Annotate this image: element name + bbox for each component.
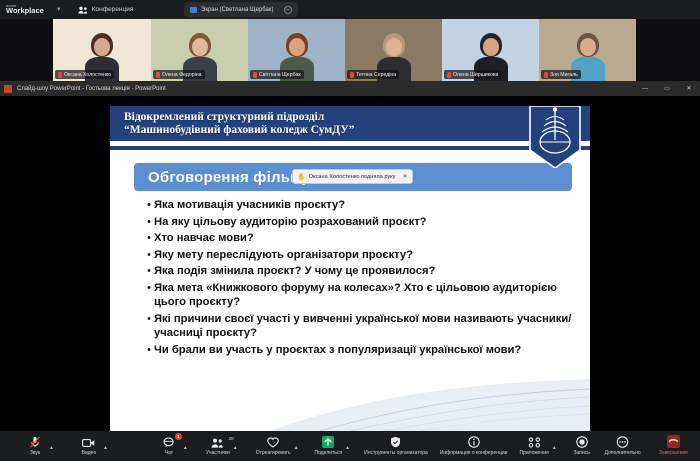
bullet-marker-icon: • [144, 198, 154, 213]
slide-bullet-item: •Які причини своєї участі у вивченні укр… [144, 312, 574, 341]
raised-hand-text: Оксана Холостенко подняла руку [309, 174, 396, 180]
shared-screen-label: Экран (Светлана Щербак) [201, 7, 274, 13]
slide-bullet-item: •Яка мотивація учасників проєкту? [144, 198, 574, 213]
shield-icon [390, 436, 401, 448]
end-meeting-button[interactable]: Завершение [657, 431, 690, 461]
control-group-record: Запись [569, 431, 595, 461]
raised-hand-icon: ✋ [297, 173, 306, 181]
control-record[interactable]: Запись [569, 431, 595, 461]
control-label: Информация о конференции [440, 450, 508, 456]
slide-header-band: Відокремлений структурний підрозділ “Маш… [110, 106, 590, 141]
face-shape [580, 38, 596, 56]
participant-name: Зоя Мигаль [550, 72, 578, 78]
chevron-down-icon[interactable]: ▼ [56, 7, 62, 13]
face-shape [192, 38, 208, 56]
slide-bullet-item: •На яку цільову аудиторію розрахований п… [144, 215, 574, 230]
control-group-share: Поделиться▲ [313, 431, 355, 461]
people-icon [211, 436, 224, 448]
minimize-button[interactable]: — [634, 81, 656, 96]
participant-nametag: Зоя Мигаль [541, 70, 581, 79]
muted-mic-icon [253, 72, 257, 78]
participant-name: Олена Федоріна [162, 72, 202, 78]
bullet-marker-icon: • [144, 231, 154, 246]
college-name: Відокремлений структурний підрозділ “Маш… [124, 111, 354, 137]
control-label: Чат [165, 450, 173, 456]
bullet-text: Яка подія змінила проєкт? У чому це проя… [154, 264, 435, 279]
participant-nametag: Оксана Холостенко [55, 70, 114, 79]
muted-mic-icon [350, 72, 354, 78]
chat-icon [163, 436, 175, 448]
face-shape [483, 38, 499, 56]
control-label: Запись [573, 450, 589, 456]
record-icon [576, 436, 588, 448]
bullet-text: Хто навчає мови? [154, 231, 254, 246]
participant-filmstrip: Оксана ХолостенкоОлена ФедорінаСвітлана … [0, 19, 700, 81]
chevron-up-icon-share[interactable]: ▲ [345, 445, 350, 451]
muted-mic-icon [544, 72, 548, 78]
participant-tile[interactable]: Тетяна Середіна [345, 19, 442, 81]
control-participants[interactable]: Участники28 [204, 431, 232, 461]
control-label: Приложения [519, 450, 548, 456]
share-icon [322, 436, 334, 448]
bullet-marker-icon: • [144, 281, 154, 296]
bullet-marker-icon: • [144, 215, 154, 230]
slide-bullet-item: •Яка подія змінила проєкт? У чому це про… [144, 264, 574, 279]
control-info[interactable]: Информация о конференции [438, 431, 510, 461]
participant-name: Оксана Холостенко [64, 72, 111, 78]
bullet-marker-icon: • [144, 248, 154, 263]
face-shape [289, 38, 305, 56]
bullet-text: На яку цільову аудиторію розрахований пр… [154, 215, 427, 230]
powerpoint-window-title: Слайд-шоу PowerPoint - Гостьова лекція -… [17, 86, 166, 92]
participant-tile[interactable]: Зоя Мигаль [539, 19, 636, 81]
meeting-tab-label: Конференция [92, 6, 134, 13]
participant-name: Світлана Щербак [259, 72, 301, 78]
control-label: Видео [82, 450, 97, 456]
bullet-text: Яку мету переслідують організатори проєк… [154, 248, 413, 263]
face-shape [94, 38, 110, 56]
participant-name: Тетяна Середіна [356, 72, 396, 78]
bullet-marker-icon: • [144, 343, 154, 358]
control-label: Участники [206, 450, 230, 456]
bullet-marker-icon: • [144, 312, 154, 327]
participant-count: 28 [229, 436, 234, 441]
control-host-tools[interactable]: Инструменты организатора [362, 431, 430, 461]
meeting-tab[interactable]: Конференция [78, 5, 134, 14]
bullet-marker-icon: • [144, 264, 154, 279]
chevron-up-icon-chat[interactable]: ▲ [183, 445, 188, 451]
slide-decoration [110, 361, 590, 431]
close-button[interactable]: ✕ [678, 81, 700, 96]
slide-band-blue [110, 146, 590, 150]
participant-nametag: Тетяна Середіна [347, 70, 399, 79]
participant-tile[interactable]: Олена Федоріна [151, 19, 248, 81]
control-group-video: Видео▲ [76, 431, 112, 461]
chevron-up-icon-react[interactable]: ▲ [294, 445, 299, 451]
control-more[interactable]: Дополнительно [603, 431, 643, 461]
bullet-text: Чи брали ви участь у проєктах з популяри… [154, 343, 521, 358]
muted-mic-icon [58, 72, 62, 78]
slide-bullet-item: •Чи брали ви участь у проєктах з популяр… [144, 343, 574, 358]
control-group-more: Дополнительно [603, 431, 643, 461]
filmstrip-spacer-left [0, 19, 53, 81]
info-icon [468, 436, 480, 448]
control-group-chat: Чат1▲ [156, 431, 192, 461]
raised-hand-toast: ✋ Оксана Холостенко подняла руку ✕ [292, 169, 413, 184]
control-label: Дополнительно [605, 450, 641, 456]
control-label: Звук [30, 450, 40, 456]
control-audio[interactable]: Звук [22, 431, 48, 461]
control-group-host-tools: Инструменты организатора [362, 431, 430, 461]
participant-tile[interactable]: Олена Ширшикова [442, 19, 539, 81]
minimize-share-icon[interactable]: – [284, 6, 292, 14]
control-label: Поделиться [315, 450, 343, 456]
close-icon[interactable]: ✕ [403, 173, 408, 180]
chevron-up-icon-video[interactable]: ▲ [103, 445, 108, 451]
powerpoint-title-bar[interactable]: Слайд-шоу PowerPoint - Гостьова лекція -… [0, 81, 700, 96]
muted-mic-icon [447, 72, 451, 78]
college-emblem-icon [526, 106, 584, 168]
muted-mic-icon [156, 72, 160, 78]
bullet-text: Які причини своєї участі у вивченні укра… [154, 312, 574, 341]
unread-badge: 1 [175, 433, 182, 440]
bullet-text: Яка мета «Книжкового форуму на колесах»?… [154, 281, 574, 310]
slide-bullet-item: •Хто навчає мови? [144, 231, 574, 246]
control-label: Инструменты организатора [364, 450, 428, 456]
control-label: Отреагировать [256, 450, 291, 456]
chevron-up-icon-apps[interactable]: ▲ [552, 445, 557, 451]
face-shape [386, 38, 402, 56]
control-group-react: Отреагировать▲ [254, 431, 303, 461]
control-video[interactable]: Видео [76, 431, 102, 461]
window-buttons: — ▭ ✕ [634, 81, 700, 96]
heart-icon [267, 436, 279, 448]
powerpoint-app-icon [4, 85, 12, 93]
control-react[interactable]: Отреагировать [254, 431, 293, 461]
brand-workplace: Workplace [6, 7, 44, 15]
people-icon [78, 5, 88, 14]
participant-nametag: Світлана Щербак [250, 70, 304, 79]
participant-name: Олена Ширшикова [453, 72, 498, 78]
slide-bullet-item: •Яку мету переслідують організатори проє… [144, 248, 574, 263]
mic-icon [29, 436, 41, 448]
zoom-top-bar: zoom Workplace ▼ Конференция Экран (Свет… [0, 0, 700, 19]
slide-bullet-list: •Яка мотивація учасників проєкту?•На яку… [144, 198, 574, 359]
apps-icon [528, 436, 541, 448]
camera-icon [82, 436, 95, 448]
slide-title: Обговорення фільму: [148, 169, 315, 186]
zoom-workplace-logo: zoom Workplace [6, 4, 44, 15]
screen-share-icon [190, 7, 197, 13]
shared-screen-tab[interactable]: Экран (Светлана Щербак) – [184, 2, 298, 17]
chevron-up-icon-audio[interactable]: ▲ [49, 445, 54, 451]
control-apps[interactable]: Приложения [517, 431, 550, 461]
meeting-control-bar: Звук▲Видео▲Чат1▲Участники28▲Отреагироват… [0, 431, 700, 461]
zoom-meeting-window: zoom Workplace ▼ Конференция Экран (Свет… [0, 0, 700, 461]
control-group-participants: Участники28▲ [204, 431, 242, 461]
powerpoint-window: Слайд-шоу PowerPoint - Гостьова лекція -… [0, 81, 700, 431]
control-share[interactable]: Поделиться [313, 431, 345, 461]
participant-tile[interactable]: Світлана Щербак [248, 19, 345, 81]
control-chat[interactable]: Чат1 [156, 431, 182, 461]
chevron-up-icon-participants[interactable]: ▲ [233, 445, 238, 451]
slide-bullet-item: •Яка мета «Книжкового форуму на колесах»… [144, 281, 574, 310]
presentation-slide: Відокремлений структурний підрозділ “Маш… [110, 106, 590, 431]
participant-nametag: Олена Федоріна [153, 70, 205, 79]
end-meeting-label: Завершение [659, 450, 688, 456]
bullet-text: Яка мотивація учасників проєкту? [154, 198, 345, 213]
participant-nametag: Олена Ширшикова [444, 70, 501, 79]
end-call-icon [667, 436, 680, 448]
control-group-apps: Приложения▲ [517, 431, 560, 461]
maximize-button[interactable]: ▭ [656, 81, 678, 96]
control-group-info: Информация о конференции [438, 431, 510, 461]
participant-tile[interactable]: Оксана Холостенко [53, 19, 151, 81]
ellipsis-icon [616, 436, 629, 448]
control-group-audio: Звук▲ [22, 431, 58, 461]
